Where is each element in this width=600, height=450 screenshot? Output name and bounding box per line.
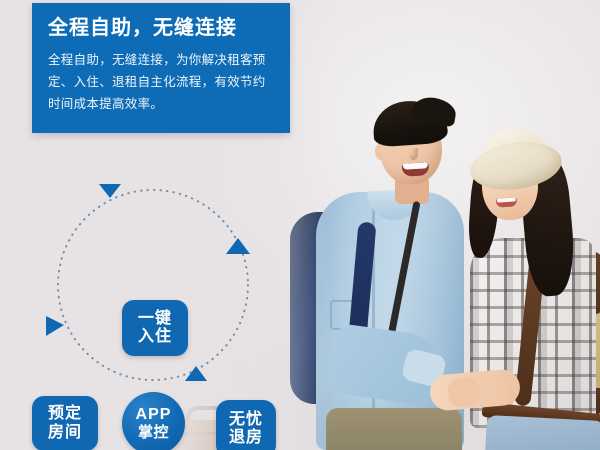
man-nose [409,148,418,160]
woman-jeans [485,415,600,450]
cycle-node-one-key-checkin[interactable]: 一键 入住 [122,300,188,356]
banner-body-text: 全程自助，无缝连接，为你解决租客预定、入住、退租自主化流程，有效节约时间成本提高… [48,50,274,116]
arrow-left-lower-icon [46,316,64,336]
cycle-node-book-room-line2: 房间 [48,424,82,442]
cycle-center-label-app: APP [136,405,172,424]
cycle-center-label-control: 掌控 [138,424,169,442]
headline-banner: 全程自助，无缝连接 全程自助，无缝连接，为你解决租客预定、入住、退租自主化流程，… [32,3,290,133]
arrow-bottom-right-icon [185,366,207,381]
arrow-top-left-icon [99,184,121,198]
woman-teeth [497,197,516,202]
man-teeth [403,162,428,169]
cycle-node-worry-free-checkout[interactable]: 无忧 退房 [216,400,276,450]
cycle-node-book-room-line1: 预定 [48,405,82,423]
cycle-node-book-room[interactable]: 预定 房间 [32,396,98,450]
banner-title: 全程自助，无缝连接 [48,17,274,39]
arrow-right-upper-icon [226,238,250,254]
promo-graphic: 全程自助，无缝连接 全程自助，无缝连接，为你解决租客预定、入住、退租自主化流程，… [0,0,600,450]
cycle-node-worry-free-checkout-line2: 退房 [229,429,263,447]
cycle-node-one-key-checkin-line1: 一键 [138,310,172,328]
cycle-node-one-key-checkin-line2: 入住 [138,328,172,346]
cycle-diagram: 一键 入住 无忧 退房 联系 保洁 预定 房间 APP 掌控 [0,140,300,440]
man-trousers [326,408,462,450]
cycle-center-app-control[interactable]: APP 掌控 [122,392,185,450]
cycle-node-worry-free-checkout-line1: 无忧 [229,411,263,429]
